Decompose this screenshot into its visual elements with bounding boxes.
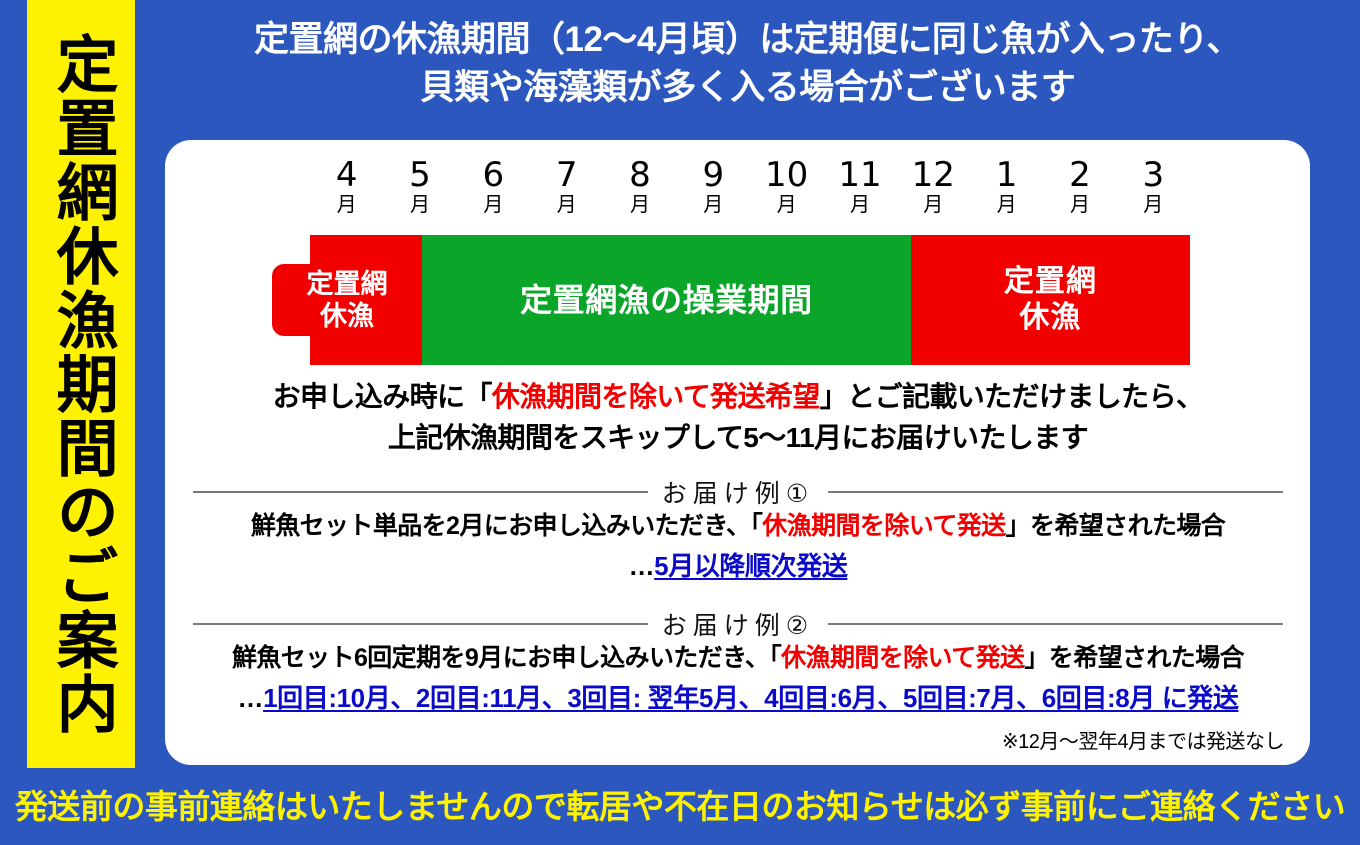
instruction-line-1-suffix: 」とご記載いただけましたら、 xyxy=(820,381,1204,412)
instruction-highlight: 休漁期間を除いて発送希望 xyxy=(492,381,820,412)
timeline-segment-open-season: 定置網漁の操業期間 xyxy=(422,235,911,365)
month-kanji: 月 xyxy=(1043,192,1116,217)
month-number: 11 xyxy=(823,158,896,192)
divider-example-2: お届け例② xyxy=(193,606,1283,642)
month-kanji: 月 xyxy=(457,192,530,217)
month-number: 4 xyxy=(310,158,383,192)
example-2-line-2: …1回目:10月、2回目:11月、3回目: 翌年5月、4回目:6月、5回目:7月… xyxy=(183,678,1293,720)
side-banner: 定置網休漁期間のご案内 xyxy=(27,0,135,768)
divider-label: お届け例① xyxy=(662,474,814,510)
month-kanji: 月 xyxy=(383,192,456,217)
example-1-highlight: 休漁期間を除いて発送 xyxy=(762,512,1005,540)
month-label: 2 月 xyxy=(1043,158,1116,217)
month-number: 7 xyxy=(530,158,603,192)
info-card: 4 月 5 月 6 月 7 月 8 月 9 月 10 月 11 月 xyxy=(165,140,1310,765)
month-number: 3 xyxy=(1117,158,1190,192)
season-timeline-bar: 定置網 休漁 定置網漁の操業期間 定置網 休漁 xyxy=(310,235,1190,365)
month-number: 8 xyxy=(603,158,676,192)
timeline-segment-closed-april: 定置網 休漁 xyxy=(310,235,422,365)
example-2-line-1: 鮮魚セット6回定期を9月にお申し込みいただき、「休漁期間を除いて発送」を希望され… xyxy=(183,640,1293,678)
month-number: 9 xyxy=(677,158,750,192)
month-label: 1 月 xyxy=(970,158,1043,217)
instruction-line-2: 上記休漁期間をスキップして5〜11月にお届けいたします xyxy=(183,418,1293,459)
divider-rule-left xyxy=(193,491,648,493)
month-kanji: 月 xyxy=(1117,192,1190,217)
example-1-result: 5月以降順次発送 xyxy=(654,551,847,581)
example-1-prefix: 鮮魚セット単品を2月にお申し込みいただき、「 xyxy=(251,512,762,540)
headline-line-1: 定置網の休漁期間（12〜4月頃）は定期便に同じ魚が入ったり、 xyxy=(150,16,1345,64)
month-label: 5 月 xyxy=(383,158,456,217)
instruction-line-1: お申し込み時に「休漁期間を除いて発送希望」とご記載いただけましたら、 xyxy=(183,377,1293,418)
example-1-block: 鮮魚セット単品を2月にお申し込みいただき、「休漁期間を除いて発送」を希望された場… xyxy=(183,508,1293,587)
month-label: 9 月 xyxy=(677,158,750,217)
month-label: 7 月 xyxy=(530,158,603,217)
closed-right-line-2: 休漁 xyxy=(1004,300,1097,336)
month-number: 10 xyxy=(750,158,823,192)
month-label: 3 月 xyxy=(1117,158,1190,217)
month-number: 1 xyxy=(970,158,1043,192)
month-scale: 4 月 5 月 6 月 7 月 8 月 9 月 10 月 11 月 xyxy=(310,158,1190,217)
closed-left-line-1: 定置網 xyxy=(272,268,422,300)
month-kanji: 月 xyxy=(310,192,383,217)
example-1-line-1: 鮮魚セット単品を2月にお申し込みいただき、「休漁期間を除いて発送」を希望された場… xyxy=(183,508,1293,546)
headline: 定置網の休漁期間（12〜4月頃）は定期便に同じ魚が入ったり、 貝類や海藻類が多く… xyxy=(150,16,1345,113)
month-kanji: 月 xyxy=(970,192,1043,217)
example-1-line-2: …5月以降順次発送 xyxy=(183,546,1293,588)
month-kanji: 月 xyxy=(530,192,603,217)
closed-right-line-1: 定置網 xyxy=(1004,264,1097,300)
month-label: 4 月 xyxy=(310,158,383,217)
headline-line-2: 貝類や海藻類が多く入る場合がございます xyxy=(150,64,1345,112)
month-kanji: 月 xyxy=(750,192,823,217)
month-kanji: 月 xyxy=(897,192,970,217)
example-2-highlight: 休漁期間を除いて発送 xyxy=(781,644,1024,672)
month-number: 6 xyxy=(457,158,530,192)
month-number: 5 xyxy=(383,158,456,192)
month-label: 11 月 xyxy=(823,158,896,217)
example-2-block: 鮮魚セット6回定期を9月にお申し込みいただき、「休漁期間を除いて発送」を希望され… xyxy=(183,640,1293,719)
example-2-suffix: 」を希望された場合 xyxy=(1024,644,1244,672)
closed-left-line-2: 休漁 xyxy=(272,300,422,332)
divider-rule-left xyxy=(193,623,648,625)
month-kanji: 月 xyxy=(677,192,750,217)
example-2-ellipsis: … xyxy=(237,683,263,713)
example-1-ellipsis: … xyxy=(629,551,655,581)
divider-label: お届け例② xyxy=(662,606,814,642)
month-number: 2 xyxy=(1043,158,1116,192)
month-label: 10 月 xyxy=(750,158,823,217)
divider-example-1: お届け例① xyxy=(193,474,1283,510)
month-label: 12 月 xyxy=(897,158,970,217)
month-number: 12 xyxy=(897,158,970,192)
timeline-segment-label: 定置網 休漁 xyxy=(1004,264,1097,336)
footer-notice: 発送前の事前連絡はいたしませんので転居や不在日のお知らせは必ず事前にご連絡くださ… xyxy=(0,780,1360,828)
instruction-text: お申し込み時に「休漁期間を除いて発送希望」とご記載いただけましたら、 上記休漁期… xyxy=(183,377,1293,458)
divider-rule-right xyxy=(828,491,1283,493)
divider-rule-right xyxy=(828,623,1283,625)
month-label: 8 月 xyxy=(603,158,676,217)
example-1-suffix: 」を希望された場合 xyxy=(1006,512,1226,540)
example-2-prefix: 鮮魚セット6回定期を9月にお申し込みいただき、「 xyxy=(232,644,781,672)
side-banner-title: 定置網休漁期間のご案内 xyxy=(49,32,112,736)
timeline-open-label: 定置網漁の操業期間 xyxy=(520,281,813,319)
month-kanji: 月 xyxy=(603,192,676,217)
timeline-segment-closed-winter: 定置網 休漁 xyxy=(911,235,1190,365)
timeline-segment-label: 定置網 休漁 xyxy=(272,264,422,337)
example-2-note: ※12月〜翌年4月までは発送なし xyxy=(1002,725,1284,754)
example-2-result: 1回目:10月、2回目:11月、3回目: 翌年5月、4回目:6月、5回目:7月、… xyxy=(263,683,1238,713)
month-kanji: 月 xyxy=(823,192,896,217)
month-label: 6 月 xyxy=(457,158,530,217)
instruction-line-1-prefix: お申し込み時に「 xyxy=(273,381,492,412)
